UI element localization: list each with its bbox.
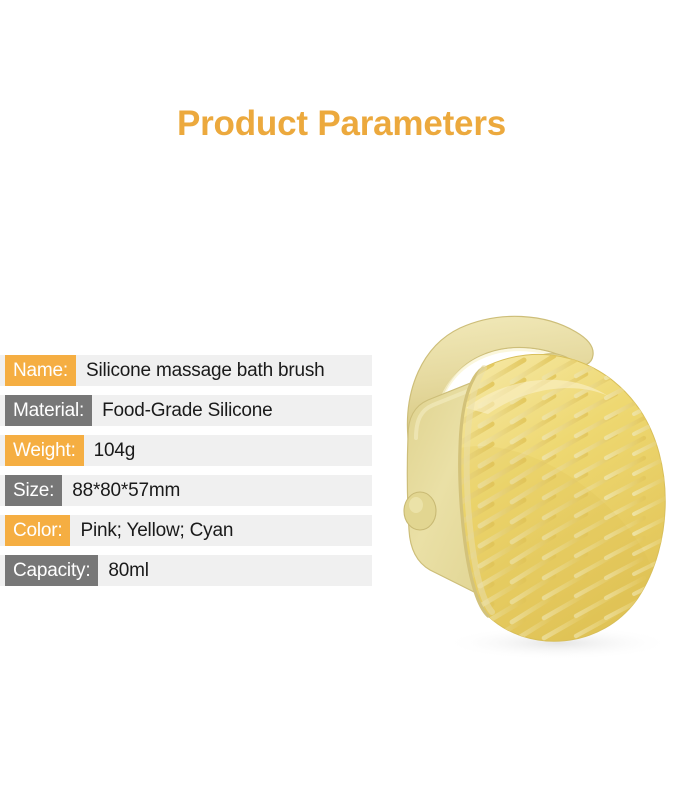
spec-label-color: Color: xyxy=(5,515,70,546)
spec-row-material: Material: Food-Grade Silicone xyxy=(0,395,372,426)
spec-value-color: Pink; Yellow; Cyan xyxy=(80,515,233,546)
product-image xyxy=(388,298,683,663)
product-parameters-page: Product Parameters Name: Silicone massag… xyxy=(0,0,683,800)
spec-label-weight: Weight: xyxy=(5,435,84,466)
spec-row-size: Size: 88*80*57mm xyxy=(0,475,372,506)
spec-label-capacity: Capacity: xyxy=(5,555,98,586)
spec-row-color: Color: Pink; Yellow; Cyan xyxy=(0,515,372,546)
page-title: Product Parameters xyxy=(0,104,683,144)
silicone-bath-brush-illustration xyxy=(388,298,683,663)
spec-table: Name: Silicone massage bath brush Materi… xyxy=(0,355,372,595)
spec-value-capacity: 80ml xyxy=(108,555,148,586)
spec-label-material: Material: xyxy=(5,395,92,426)
spec-label-name: Name: xyxy=(5,355,76,386)
spec-row-capacity: Capacity: 80ml xyxy=(0,555,372,586)
spec-value-weight: 104g xyxy=(94,435,135,466)
spec-row-name: Name: Silicone massage bath brush xyxy=(0,355,372,386)
spec-label-size: Size: xyxy=(5,475,62,506)
brush-side-button-highlight xyxy=(409,497,423,513)
spec-value-size: 88*80*57mm xyxy=(72,475,180,506)
spec-value-material: Food-Grade Silicone xyxy=(102,395,272,426)
spec-value-name: Silicone massage bath brush xyxy=(86,355,325,386)
spec-row-weight: Weight: 104g xyxy=(0,435,372,466)
